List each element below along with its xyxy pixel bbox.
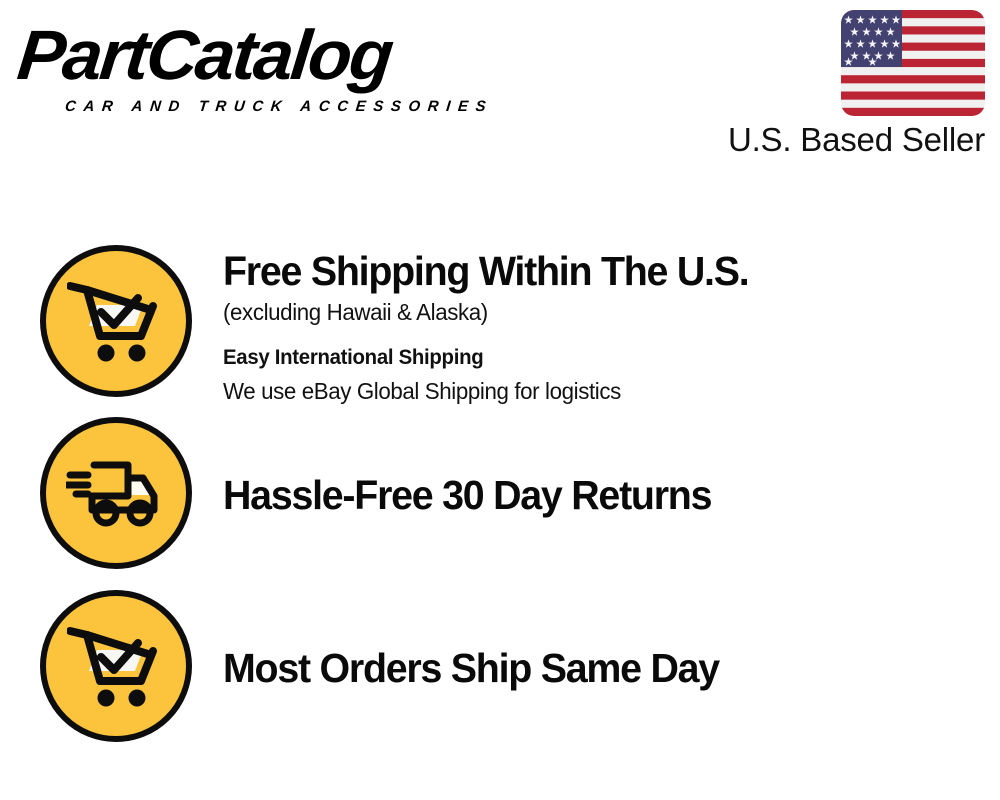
us-based-seller-label: U.S. Based Seller [715,120,985,160]
feature-note: (excluding Hawaii & Alaska) [223,295,957,329]
feature-sub-text: We use eBay Global Shipping for logistic… [223,374,957,408]
feature-row: Most Orders Ship Same Day [40,590,980,742]
delivery-truck-icon [40,417,192,569]
feature-subblock: Easy International Shipping We use eBay … [223,341,980,408]
cart-check-icon [40,590,192,742]
feature-headline: Most Orders Ship Same Day [223,644,950,692]
feature-text: Hassle-Free 30 Day Returns [192,417,980,519]
feature-sub-title: Easy International Shipping [223,341,957,374]
feature-row: Hassle-Free 30 Day Returns [40,417,980,569]
cart-check-icon [40,245,192,397]
page-header: PartCatalog CAR AND TRUCK ACCESSORIES [0,0,1000,175]
feature-text: Most Orders Ship Same Day [192,590,980,692]
feature-headline: Hassle-Free 30 Day Returns [223,471,950,519]
brand-tagline: CAR AND TRUCK ACCESSORIES [64,98,494,115]
us-based-seller-badge: U.S. Based Seller [715,10,985,160]
brand-wordmark: PartCatalog [14,18,394,92]
feature-headline: Free Shipping Within The U.S. [223,247,950,295]
us-flag-icon [841,10,985,116]
feature-text: Free Shipping Within The U.S. (excluding… [192,245,980,408]
brand-logo[interactable]: PartCatalog CAR AND TRUCK ACCESSORIES [22,18,492,113]
feature-row: Free Shipping Within The U.S. (excluding… [40,245,980,408]
